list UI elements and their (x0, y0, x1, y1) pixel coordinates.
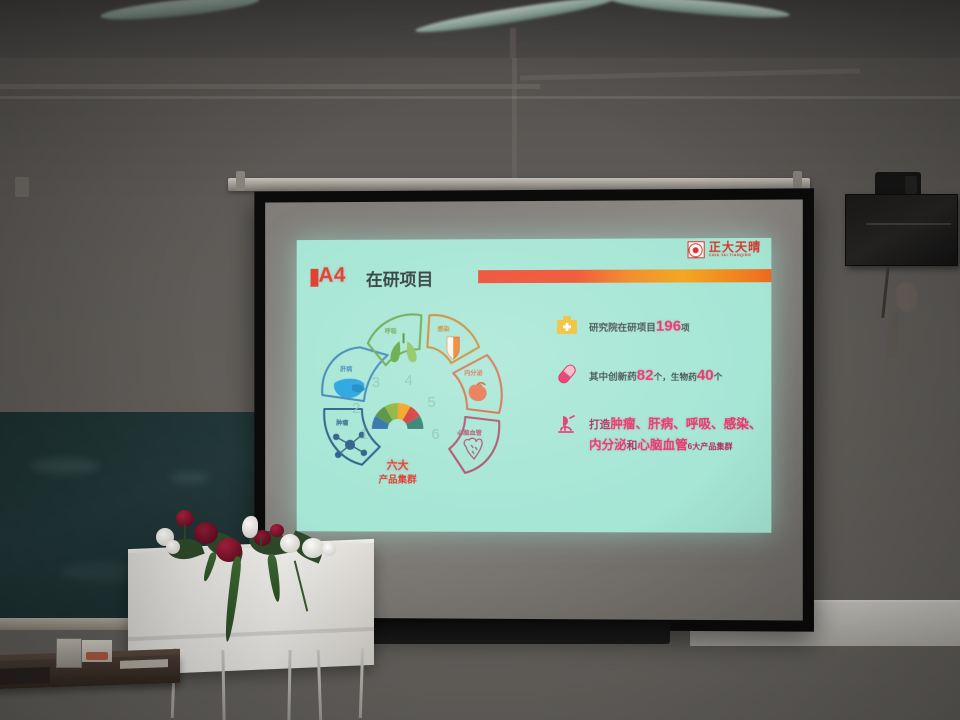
ring-number-5: 5 (427, 394, 435, 411)
rose (270, 524, 284, 537)
desk-red-label (86, 652, 108, 660)
company-logo: 正大天晴 CHIA TAI TIANQING (688, 241, 762, 258)
bullet-text-clusters: 打造肿瘤、肝病、呼吸、感染、 内分泌和心脑血管6大产品集群 (589, 414, 762, 457)
shield-icon (447, 337, 459, 359)
header-accent-tick (311, 269, 319, 287)
bullet3-line1: 打造肿瘤、肝病、呼吸、感染、 (589, 414, 762, 435)
projection-screen-weight-bar (340, 622, 670, 644)
rose (194, 522, 218, 544)
ring-number-2: 2 (352, 400, 360, 417)
speaker-grill (866, 223, 951, 225)
six-cluster-fan-diagram: 肝病 肿瘤 (303, 297, 531, 525)
petal-cardio[interactable]: 心脑血管 (449, 417, 499, 473)
ring-number-6: 6 (431, 426, 439, 443)
slide-header: A4 在研项目 (297, 260, 772, 294)
bullet3-line2-highlight2: 心脑血管 (637, 438, 687, 452)
microscope-icon (553, 409, 581, 437)
slide-title: 在研项目 (366, 265, 433, 290)
desk-box (56, 638, 82, 668)
housing-brand-label (766, 182, 768, 187)
logo-chinese-name: 正大天晴 (709, 241, 762, 253)
petal-infection[interactable]: 感染 (427, 315, 479, 363)
wall-mounted-speaker (845, 194, 958, 266)
white-flower (166, 540, 180, 554)
lungs-icon (391, 333, 417, 362)
petal-endocrine[interactable]: 内分泌 (453, 355, 502, 413)
ceiling-fluorescent-light (610, 0, 791, 22)
presentation-slide: A4 在研项目 正大天晴 CHIA TAI TIANQING (297, 238, 772, 533)
center-fan-icon (372, 403, 424, 439)
petal-oncology[interactable]: 肿瘤 (324, 409, 380, 465)
ceiling-fluorescent-light (100, 0, 261, 24)
logo-english-name: CHIA TAI TIANQING (709, 254, 762, 258)
bullet1-suffix: 项 (681, 323, 690, 333)
header-gradient-bar (478, 269, 771, 283)
bullet1-number: 196 (656, 318, 681, 335)
bullet3-line2-highlight: 内分泌 (589, 438, 627, 452)
desk-dark-object (0, 667, 50, 685)
wall-conduit-vertical (512, 58, 517, 178)
bullet3-line2-tail: 6大产品集群 (688, 442, 733, 451)
stomach-icon (469, 383, 487, 401)
bullet-item-clusters: 打造肿瘤、肝病、呼吸、感染、 内分泌和心脑血管6大产品集群 (553, 414, 762, 457)
white-flower (242, 516, 258, 538)
bullet-list: 研究院在研项目196项 (553, 314, 762, 482)
petal-label-cardio: 心脑血管 (457, 429, 482, 437)
classroom-scene: A4 在研项目 正大天晴 CHIA TAI TIANQING (0, 0, 960, 720)
bullet1-prefix: 研究院在研项目 (589, 323, 656, 334)
bullet2-number: 82 (637, 367, 654, 384)
bullet-text-projects: 研究院在研项目196项 (589, 314, 762, 338)
wall-seam (0, 96, 960, 99)
wall-cable-bundle (896, 282, 918, 312)
ring-number-3: 3 (372, 374, 380, 391)
bullet-text-drugs: 其中创新药82个，生物药40个 (589, 364, 762, 388)
white-flower (302, 538, 324, 558)
petal-label-infection: 感染 (437, 325, 450, 333)
ring-number-4: 4 (405, 372, 413, 389)
petal-label-respiratory: 呼吸 (385, 327, 398, 335)
bullet3-line1-highlight: 肿瘤、肝病、呼吸、感染、 (610, 417, 761, 431)
white-flower (280, 534, 300, 553)
bullet2-prefix: 其中创新药 (589, 372, 637, 383)
logo-text: 正大天晴 CHIA TAI TIANQING (709, 241, 762, 258)
capsule-pill-icon (553, 360, 581, 388)
petal-label-oncology: 肿瘤 (335, 419, 349, 427)
fan-diagram-svg: 肝病 肿瘤 (303, 297, 531, 525)
desk-book (120, 659, 168, 669)
wall-socket[interactable] (14, 176, 30, 198)
section-code: A4 (318, 264, 346, 288)
bullet3-line2: 内分泌和心脑血管6大产品集群 (589, 435, 762, 457)
petal-respiratory[interactable]: 呼吸 (368, 314, 422, 365)
petal-label-endocrine: 内分泌 (464, 369, 483, 377)
medical-kit-icon (553, 311, 581, 339)
wall-conduit (0, 84, 540, 89)
petal-label-liver: 肝病 (340, 365, 353, 373)
bullet3-lead: 打造 (589, 419, 610, 431)
center-label-line1: 六大 (387, 458, 409, 472)
flower-arrangement (150, 508, 370, 570)
bullet2-number2: 40 (697, 367, 714, 384)
ceiling (0, 0, 960, 62)
heart-icon (464, 438, 482, 459)
ring-number-1: 1 (360, 426, 368, 443)
bullet3-line2-mid: 和 (627, 440, 638, 452)
center-label-line2: 产品集群 (379, 474, 417, 486)
bullet2-suffix: 个 (714, 372, 723, 382)
bullet-item-drugs: 其中创新药82个，生物药40个 (553, 364, 762, 388)
bullet2-mid: 个，生物药 (654, 372, 697, 382)
housing-bracket (236, 171, 245, 191)
white-flower (322, 542, 336, 556)
bullet-item-projects: 研究院在研项目196项 (553, 314, 762, 338)
logo-emblem-icon (688, 241, 705, 258)
